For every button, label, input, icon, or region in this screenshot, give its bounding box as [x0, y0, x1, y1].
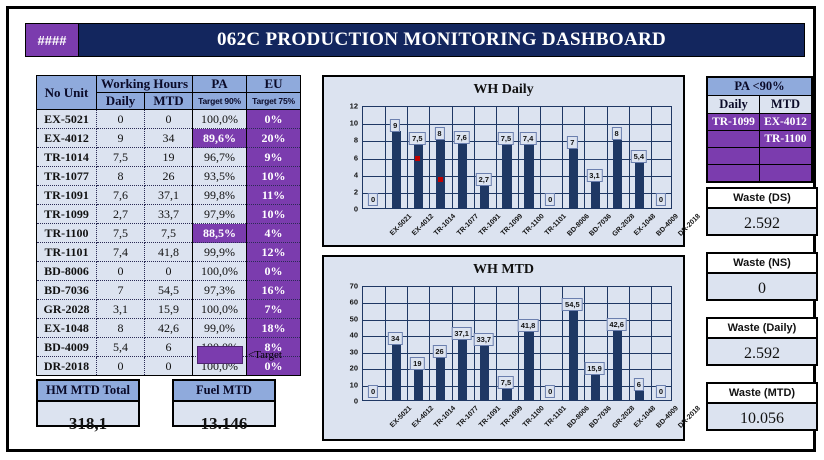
table-row: TR-10992,733,797,9%10%	[37, 205, 301, 224]
kpi-fuel-mtd-value: 13.146	[174, 402, 274, 446]
cell-daily: 2,7	[97, 205, 145, 224]
bar	[480, 345, 489, 400]
col-unit: No Unit	[37, 76, 97, 110]
bar	[414, 369, 423, 400]
x-axis-label: EX-4012	[411, 213, 435, 237]
gridline-vertical	[607, 107, 608, 208]
y-axis-tick: 0	[336, 397, 358, 406]
waste-ns-box: Waste (NS) 0	[706, 252, 818, 301]
bar	[458, 143, 467, 208]
legend-swatch-below-target	[197, 346, 243, 364]
table-row: EX-1048842,699,0%18%	[37, 319, 301, 338]
table-row: TR-107782693,5%10%	[37, 167, 301, 186]
cell-daily: 9	[97, 129, 145, 148]
chart-wh-mtd: WH MTD 0102030405060700EX-502134EX-40121…	[322, 255, 685, 441]
cell-unit: TR-1101	[37, 243, 97, 262]
data-label: 0	[545, 385, 555, 398]
table-row: TR-11017,441,899,9%12%	[37, 243, 301, 262]
kpi-fuel-mtd-label: Fuel MTD	[174, 381, 274, 402]
cell-mtd: 0	[145, 110, 193, 129]
cell-eu: 9%	[247, 148, 301, 167]
bar	[392, 344, 401, 400]
pa-below-90-cell-daily	[707, 165, 759, 182]
col-eu-target: Target 75%	[247, 93, 301, 110]
waste-mtd-value: 10.056	[708, 404, 816, 433]
table-row: TR-10917,637,199,8%11%	[37, 186, 301, 205]
table-row: BD-7036754,597,3%16%	[37, 281, 301, 300]
y-axis-tick: 12	[336, 102, 358, 111]
bar	[569, 148, 578, 208]
legend-label: <Target	[248, 349, 282, 361]
data-label: 0	[656, 385, 666, 398]
table-row: GR-20283,115,9100,0%7%	[37, 300, 301, 319]
bar	[436, 139, 445, 208]
data-label: 7,6	[453, 131, 469, 144]
gridline-vertical	[429, 107, 430, 208]
table-row: BD-800600100,0%0%	[37, 262, 301, 281]
gridline-vertical	[518, 287, 519, 400]
cell-mtd: 19	[145, 148, 193, 167]
y-axis-tick: 40	[336, 331, 358, 340]
data-label: 7	[567, 136, 577, 149]
cell-daily: 8	[97, 167, 145, 186]
data-label: 19	[410, 357, 424, 370]
kpi-hm-mtd-total-label: HM MTD Total	[38, 381, 138, 402]
pa-below-90-cell-mtd: EX-4012	[759, 114, 812, 131]
data-label: 0	[368, 193, 378, 206]
pa-below-90-row: TR-1099EX-4012	[707, 114, 812, 131]
pa-below-90-head: PA <90% Daily MTD	[707, 77, 812, 114]
cell-pa: 99,0%	[193, 319, 247, 338]
gridline-vertical	[496, 107, 497, 208]
table-row: EX-502100100,0%0%	[37, 110, 301, 129]
pa-below-90-col-row: Daily MTD	[707, 96, 812, 114]
pa-below-90-cell-mtd	[759, 165, 812, 182]
x-axis-label: BD-8006	[566, 405, 591, 430]
data-label: 0	[545, 193, 555, 206]
bar	[524, 331, 533, 400]
chart-wh-daily-plot: 0246810120EX-50219EX-40127,5TR-10148TR-1…	[324, 77, 683, 245]
cell-unit: TR-1014	[37, 148, 97, 167]
y-axis-tick: 0	[336, 205, 358, 214]
y-axis-tick: 10	[336, 380, 358, 389]
data-label: 34	[388, 332, 402, 345]
cell-pa: 88,5%	[193, 224, 247, 243]
gridline-horizontal	[363, 176, 671, 177]
waste-mtd-box: Waste (MTD) 10.056	[706, 382, 818, 431]
chart-wh-daily: WH Daily 0246810120EX-50219EX-40127,5TR-…	[322, 75, 685, 247]
data-label: 41,8	[518, 319, 539, 332]
bar	[458, 339, 467, 400]
x-axis-label: EX-1048	[633, 405, 657, 429]
x-axis-label: TR-1101	[544, 405, 568, 429]
data-label: 3,1	[586, 169, 602, 182]
cell-mtd: 0	[145, 357, 193, 376]
x-axis-label: TR-1101	[544, 213, 568, 237]
cell-daily: 0	[97, 110, 145, 129]
cell-eu: 7%	[247, 300, 301, 319]
cell-daily: 8	[97, 319, 145, 338]
data-label: 7,4	[520, 132, 536, 145]
cell-mtd: 33,7	[145, 205, 193, 224]
cell-mtd: 26	[145, 167, 193, 186]
pa-below-90-row	[707, 165, 812, 182]
x-axis-label: BD-4009	[655, 405, 680, 430]
bar	[635, 390, 644, 400]
data-label: 26	[432, 345, 446, 358]
col-mtd: MTD	[145, 93, 193, 110]
gridline-vertical	[385, 287, 386, 400]
cell-mtd: 54,5	[145, 281, 193, 300]
x-axis-label: TR-1099	[500, 405, 524, 429]
waste-daily-value: 2.592	[708, 339, 816, 368]
waste-mtd-label: Waste (MTD)	[708, 384, 816, 404]
waste-ds-value: 2.592	[708, 209, 816, 238]
plot-area	[362, 106, 672, 209]
gridline-vertical	[452, 287, 453, 400]
bar	[613, 139, 622, 208]
y-axis-tick: 50	[336, 314, 358, 323]
gridline-vertical	[407, 287, 408, 400]
cell-unit: TR-1091	[37, 186, 97, 205]
bar	[502, 388, 511, 400]
dashboard-frame: #### 062C PRODUCTION MONITORING DASHBOAR…	[6, 6, 816, 452]
cell-eu: 20%	[247, 129, 301, 148]
cell-pa: 100,0%	[193, 110, 247, 129]
cell-unit: EX-5021	[37, 110, 97, 129]
table-row: EX-401293489,6%20%	[37, 129, 301, 148]
pa-below-90-title-row: PA <90%	[707, 77, 812, 96]
cell-eu: 11%	[247, 186, 301, 205]
cell-pa: 99,9%	[193, 243, 247, 262]
gridline-vertical	[518, 107, 519, 208]
x-axis-label: TR-1077	[455, 405, 479, 429]
waste-ns-label: Waste (NS)	[708, 254, 816, 274]
pa-below-90-cell-daily: TR-1099	[707, 114, 759, 131]
plot-area	[362, 286, 672, 401]
cell-unit: TR-1100	[37, 224, 97, 243]
cell-eu: 12%	[247, 243, 301, 262]
cell-eu: 10%	[247, 205, 301, 224]
legend: <Target	[197, 346, 282, 364]
waste-ns-value: 0	[708, 274, 816, 303]
gridline-horizontal	[363, 159, 671, 160]
x-axis-label: EX-5021	[389, 405, 413, 429]
gridline-vertical	[452, 107, 453, 208]
waste-daily-label: Waste (Daily)	[708, 319, 816, 339]
cell-pa: 89,6%	[193, 129, 247, 148]
gridline-vertical	[584, 287, 585, 400]
cell-pa: 97,3%	[193, 281, 247, 300]
x-axis-label: DR-2018	[677, 213, 702, 238]
col-pa: PA	[193, 76, 247, 93]
cell-pa: 93,5%	[193, 167, 247, 186]
cell-daily: 7,6	[97, 186, 145, 205]
cell-mtd: 34	[145, 129, 193, 148]
x-axis-label: BD-7036	[589, 405, 614, 430]
gridline-vertical	[407, 107, 408, 208]
x-axis-label: TR-1077	[455, 213, 479, 237]
cell-unit: BD-7036	[37, 281, 97, 300]
cell-mtd: 7,5	[145, 224, 193, 243]
bar	[480, 185, 489, 208]
data-label: 37,1	[451, 327, 472, 340]
waste-ds-label: Waste (DS)	[708, 189, 816, 209]
x-axis-label: TR-1100	[522, 213, 546, 237]
y-axis-tick: 70	[336, 282, 358, 291]
data-label: 6	[634, 378, 644, 391]
x-axis-label: BD-4009	[655, 213, 680, 238]
production-table-head: No Unit Working Hours PA EU Daily MTD Ta…	[37, 76, 301, 110]
x-axis-label: EX-5021	[389, 213, 413, 237]
cell-eu: 0%	[247, 262, 301, 281]
x-axis-label: GR-2028	[611, 405, 636, 430]
bar	[591, 181, 600, 208]
cell-daily: 7,4	[97, 243, 145, 262]
x-axis-label: TR-1014	[433, 213, 457, 237]
cell-daily: 0	[97, 262, 145, 281]
x-axis-label: TR-1100	[522, 405, 546, 429]
header-row-1: No Unit Working Hours PA EU	[37, 76, 301, 93]
x-axis-label: EX-4012	[411, 405, 435, 429]
col-working-hours: Working Hours	[97, 76, 193, 93]
cell-mtd: 15,9	[145, 300, 193, 319]
bar	[569, 310, 578, 400]
cell-unit: GR-2028	[37, 300, 97, 319]
cell-pa: 99,8%	[193, 186, 247, 205]
pa-below-90-body: TR-1099EX-4012TR-1100	[707, 114, 812, 182]
data-label: 8	[434, 127, 444, 140]
x-axis-label: GR-2028	[611, 213, 636, 238]
cell-daily: 7,5	[97, 148, 145, 167]
gridline-vertical	[540, 107, 541, 208]
data-label: 7,5	[409, 132, 425, 145]
gridline-vertical	[629, 287, 630, 400]
gridline-vertical	[651, 107, 652, 208]
cell-unit: BD-8006	[37, 262, 97, 281]
bar	[635, 162, 644, 208]
y-axis-tick: 10	[336, 119, 358, 128]
data-label: 15,9	[584, 362, 605, 375]
pa-below-90-col-mtd: MTD	[759, 96, 812, 114]
cell-daily: 3,1	[97, 300, 145, 319]
cell-pa: 100,0%	[193, 262, 247, 281]
data-label: 33,7	[473, 333, 494, 346]
cell-eu: 4%	[247, 224, 301, 243]
x-axis-label: TR-1091	[478, 405, 502, 429]
y-axis-tick: 20	[336, 364, 358, 373]
data-label: 8	[612, 127, 622, 140]
cell-pa: 96,7%	[193, 148, 247, 167]
cell-unit: TR-1099	[37, 205, 97, 224]
cell-eu: 0%	[247, 110, 301, 129]
gridline-vertical	[474, 107, 475, 208]
gridline-vertical	[385, 107, 386, 208]
cell-eu: 18%	[247, 319, 301, 338]
gridline-vertical	[540, 287, 541, 400]
cell-eu: 10%	[247, 167, 301, 186]
cell-mtd: 41,8	[145, 243, 193, 262]
pa-below-90-table: PA <90% Daily MTD TR-1099EX-4012TR-1100	[706, 76, 813, 183]
kpi-fuel-mtd: Fuel MTD 13.146	[172, 379, 276, 427]
cell-daily: 7,5	[97, 224, 145, 243]
pa-below-90-cell-mtd: TR-1100	[759, 131, 812, 148]
cell-unit: TR-1077	[37, 167, 97, 186]
data-label: 7,5	[498, 376, 514, 389]
cell-unit: EX-1048	[37, 319, 97, 338]
col-daily: Daily	[97, 93, 145, 110]
x-axis-label: TR-1014	[433, 405, 457, 429]
data-label: 2,7	[476, 173, 492, 186]
chart-wh-mtd-plot: 0102030405060700EX-502134EX-401219TR-101…	[324, 257, 683, 439]
cell-daily: 7	[97, 281, 145, 300]
y-axis-tick: 4	[336, 170, 358, 179]
table-row: TR-11007,57,588,5%4%	[37, 224, 301, 243]
pa-below-90-row: TR-1100	[707, 131, 812, 148]
cell-mtd: 37,1	[145, 186, 193, 205]
gridline-vertical	[651, 287, 652, 400]
bar	[392, 131, 401, 208]
waste-ds-box: Waste (DS) 2.592	[706, 187, 818, 236]
gridline-vertical	[607, 287, 608, 400]
cell-daily: 0	[97, 357, 145, 376]
pa-below-90-row	[707, 148, 812, 165]
bar	[591, 374, 600, 400]
cell-mtd: 0	[145, 262, 193, 281]
gridline-horizontal	[363, 386, 671, 387]
bar	[613, 330, 622, 400]
y-axis-tick: 2	[336, 187, 358, 196]
chart-marker	[415, 156, 420, 161]
pa-below-90-title: PA <90%	[707, 77, 812, 96]
bar	[502, 144, 511, 208]
dashboard-header: #### 062C PRODUCTION MONITORING DASHBOAR…	[25, 23, 805, 57]
table-row: TR-10147,51996,7%9%	[37, 148, 301, 167]
data-label: 9	[390, 119, 400, 132]
gridline-horizontal	[363, 303, 671, 304]
cell-pa: 97,9%	[193, 205, 247, 224]
cell-unit: DR-2018	[37, 357, 97, 376]
production-table: No Unit Working Hours PA EU Daily MTD Ta…	[36, 75, 301, 376]
bar	[414, 144, 423, 208]
pa-below-90-cell-mtd	[759, 148, 812, 165]
cell-mtd: 6	[145, 338, 193, 357]
kpi-hm-mtd-total-value: 318,1	[38, 402, 138, 446]
gridline-vertical	[562, 107, 563, 208]
waste-daily-box: Waste (Daily) 2.592	[706, 317, 818, 366]
cell-daily: 5,4	[97, 338, 145, 357]
data-label: 0	[656, 193, 666, 206]
col-pa-target: Target 90%	[193, 93, 247, 110]
chart-marker	[438, 177, 443, 182]
date-badge: ####	[26, 24, 79, 56]
cell-mtd: 42,6	[145, 319, 193, 338]
x-axis-label: BD-8006	[566, 213, 591, 238]
y-axis-tick: 60	[336, 298, 358, 307]
pa-below-90-cell-daily	[707, 148, 759, 165]
page-title: 062C PRODUCTION MONITORING DASHBOARD	[79, 24, 804, 56]
x-axis-label: DR-2018	[677, 405, 702, 430]
pa-below-90-cell-daily	[707, 131, 759, 148]
y-axis-tick: 8	[336, 136, 358, 145]
cell-unit: BD-4009	[37, 338, 97, 357]
data-label: 42,6	[606, 318, 627, 331]
data-label: 5,4	[631, 150, 647, 163]
gridline-horizontal	[363, 353, 671, 354]
production-table-body: EX-502100100,0%0%EX-401293489,6%20%TR-10…	[37, 110, 301, 376]
cell-eu: 16%	[247, 281, 301, 300]
gridline-vertical	[429, 287, 430, 400]
col-eu: EU	[247, 76, 301, 93]
x-axis-label: TR-1099	[500, 213, 524, 237]
gridline-horizontal	[363, 336, 671, 337]
data-label: 7,5	[498, 132, 514, 145]
bar	[524, 144, 533, 208]
data-label: 0	[368, 385, 378, 398]
x-axis-label: TR-1091	[478, 213, 502, 237]
cell-pa: 100,0%	[193, 300, 247, 319]
y-axis-tick: 30	[336, 347, 358, 356]
gridline-vertical	[584, 107, 585, 208]
gridline-horizontal	[363, 124, 671, 125]
x-axis-label: BD-7036	[589, 213, 614, 238]
cell-unit: EX-4012	[37, 129, 97, 148]
data-label: 54,5	[562, 298, 583, 311]
y-axis-tick: 6	[336, 153, 358, 162]
kpi-hm-mtd-total: HM MTD Total 318,1	[36, 379, 140, 427]
x-axis-label: EX-1048	[633, 213, 657, 237]
pa-below-90-col-daily: Daily	[707, 96, 759, 114]
bar	[436, 357, 445, 400]
gridline-horizontal	[363, 193, 671, 194]
